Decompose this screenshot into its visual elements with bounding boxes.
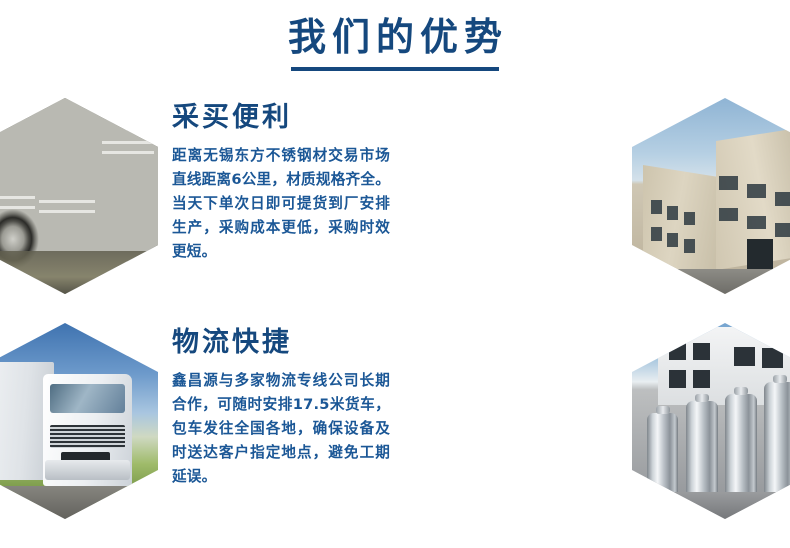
road-surface [0,486,158,519]
factory-building-image [632,98,790,294]
advantage-card-2: 源头厂家 自建5000平方米生产车间，拥有专业工人40余名，高级技工5人，各类生… [395,92,790,312]
advantage-card-1-text: 距离无锡东方不锈钢材交易市场直线距离6公里，材质规格齐全。当天下单次日即可提货到… [172,144,390,264]
storage-tank-2 [686,401,718,495]
storage-tank-4 [764,382,790,496]
page-header: 我们的优势 [0,14,790,71]
advantage-card-3-text: 鑫昌源与多家物流专线公司长期合作，可随时安排17.5米货车，包车发往全国各地，确… [172,369,390,489]
advantage-card-4: 交期保障 鑫昌源拥有10多年生产加工经验，对环保设备、化工设备、不锈钢成套设备等… [395,317,790,537]
advantage-card-1-body: 采买便利 距离无锡东方不锈钢材交易市场直线距离6公里，材质规格齐全。当天下单次日… [172,102,390,264]
stainless-tanks-image [632,323,790,519]
steel-coils-photo [0,98,158,294]
advantage-card-3-body: 物流快捷 鑫昌源与多家物流专线公司长期合作，可随时安排17.5米货车，包车发往全… [172,327,390,489]
advantage-card-1: 采买便利 距离无锡东方不锈钢材交易市场直线距离6公里，材质规格齐全。当天下单次日… [0,92,395,312]
building-ground [632,269,790,294]
stainless-tanks-photo [632,323,790,519]
delivery-truck-photo [0,323,158,519]
steel-coils-image [0,98,158,294]
advantages-banner: 我们的优势 采买便利 距离无锡东方不锈钢材交易市场直线距离6公里，材质规格齐全。… [0,0,790,548]
truck-grille [50,425,124,449]
delivery-truck-image [0,323,158,519]
storage-tank-1 [647,413,679,495]
advantage-card-1-title: 采买便利 [172,102,390,134]
truck-bumper [45,460,131,480]
page-title: 我们的优势 [0,14,790,60]
truck-windshield [50,384,124,413]
concrete-pad [632,492,790,519]
advantage-card-grid: 采买便利 距离无锡东方不锈钢材交易市场直线距离6公里，材质规格齐全。当天下单次日… [0,92,790,542]
storage-tank-3 [725,394,757,496]
factory-building-photo [632,98,790,294]
title-underline-rule [291,67,499,71]
warehouse-floor [0,251,158,294]
advantage-card-3-title: 物流快捷 [172,327,390,359]
advantage-card-3: 物流快捷 鑫昌源与多家物流专线公司长期合作，可随时安排17.5米货车，包车发往全… [0,317,395,537]
